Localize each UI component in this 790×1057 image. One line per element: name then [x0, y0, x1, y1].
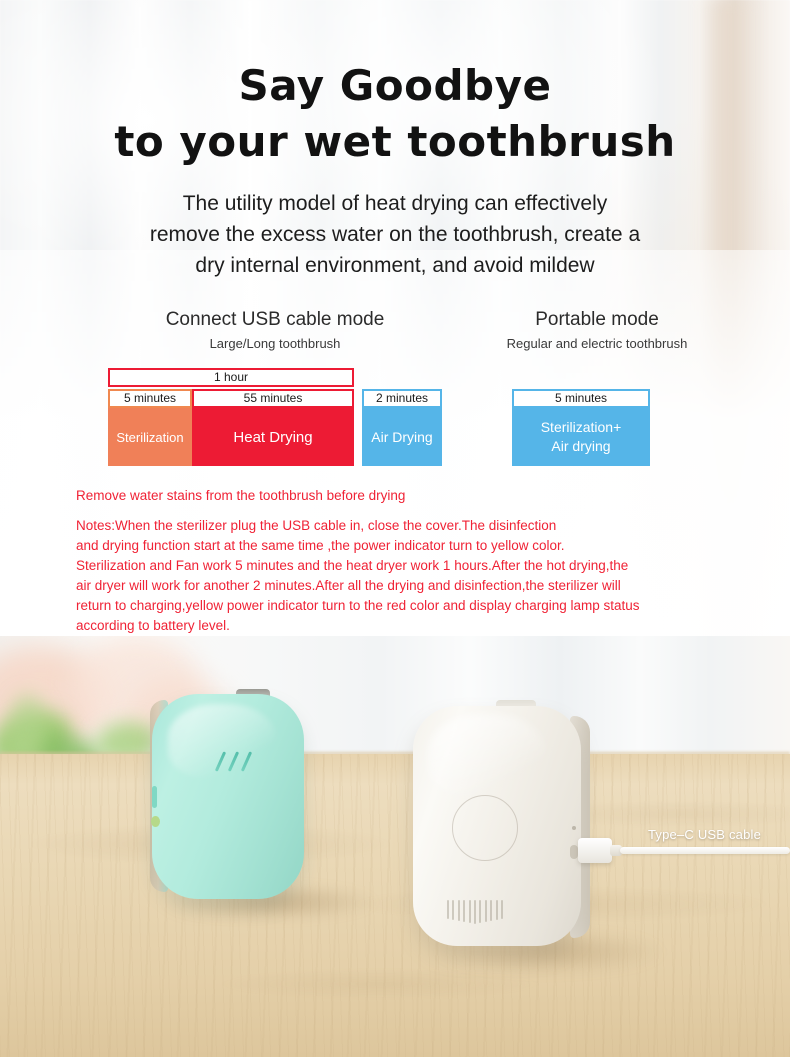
timeline-segment-portable: 5 minutes Sterilization+ Air drying — [512, 389, 650, 466]
segment-duration-heat-drying: 55 minutes — [192, 389, 354, 408]
usb-connector-plug — [578, 838, 612, 863]
mode-usb-title: Connect USB cable mode — [108, 308, 442, 332]
segment-name-heat-drying: Heat Drying — [192, 408, 354, 466]
mode-portable-title: Portable mode — [452, 308, 742, 332]
white-device-power-button — [570, 845, 578, 859]
white-device-indicator-light — [572, 826, 576, 830]
mode-portable-subtitle: Regular and electric toothbrush — [452, 334, 742, 354]
white-device-circle-logo-icon — [452, 795, 518, 861]
notes-line-6: according to battery level. — [76, 616, 766, 636]
segment-duration-portable: 5 minutes — [512, 389, 650, 408]
page-subheadline: The utility model of heat drying can eff… — [0, 188, 790, 281]
notes-line-1: Notes:When the sterilizer plug the USB c… — [76, 516, 766, 536]
headline-line-1: Say Goodbye — [239, 61, 552, 110]
mint-device-indicator-light — [151, 816, 160, 827]
mint-device-power-button — [152, 786, 157, 808]
subheadline-line-2: remove the excess water on the toothbrus… — [0, 219, 790, 250]
headline-line-2: to your wet toothbrush — [0, 114, 790, 170]
page-headline: Say Goodbye to your wet toothbrush — [0, 58, 790, 170]
subheadline-line-3: dry internal environment, and avoid mild… — [0, 250, 790, 281]
timeline-segment-sterilization: 5 minutes Sterilization — [108, 389, 192, 466]
product-infographic-page: Say Goodbye to your wet toothbrush The u… — [0, 0, 790, 1057]
notes-line-3: Sterilization and Fan work 5 minutes and… — [76, 556, 766, 576]
notes-line-4: air dryer will work for another 2 minute… — [76, 576, 766, 596]
notes-line-2: and drying function start at the same ti… — [76, 536, 766, 556]
mode-heading-portable: Portable mode Regular and electric tooth… — [452, 308, 742, 354]
notes-paragraph: Notes:When the sterilizer plug the USB c… — [76, 516, 766, 636]
usb-cable-wire — [620, 847, 790, 854]
timeline-usb-mode: 1 hour 5 minutes Sterilization 55 minute… — [108, 368, 442, 466]
warning-text: Remove water stains from the toothbrush … — [76, 486, 766, 506]
segment-name-sterilization: Sterilization — [108, 408, 192, 466]
segment-name-portable-line-1: Sterilization+ — [541, 418, 622, 437]
timeline-portable-mode: 5 minutes Sterilization+ Air drying — [512, 389, 650, 466]
segment-duration-sterilization: 5 minutes — [108, 389, 192, 408]
segment-name-portable-line-2: Air drying — [551, 437, 610, 456]
segment-duration-air-drying: 2 minutes — [362, 389, 442, 408]
segment-name-air-drying: Air Drying — [362, 408, 442, 466]
segment-name-portable: Sterilization+ Air drying — [512, 408, 650, 466]
mode-heading-usb: Connect USB cable mode Large/Long toothb… — [108, 308, 442, 354]
timeline-segment-heat-drying: 55 minutes Heat Drying — [192, 389, 354, 466]
subheadline-line-1: The utility model of heat drying can eff… — [0, 188, 790, 219]
cable-label: Type–C USB cable — [648, 827, 761, 842]
timeline-segment-air-drying: 2 minutes Air Drying — [362, 389, 442, 466]
mode-usb-subtitle: Large/Long toothbrush — [108, 334, 442, 354]
timeline-total-duration: 1 hour — [108, 368, 354, 387]
white-device-vent-slots — [447, 900, 507, 926]
notes-line-5: return to charging,yellow power indicato… — [76, 596, 766, 616]
mint-device-slash-logo-icon — [217, 751, 261, 773]
